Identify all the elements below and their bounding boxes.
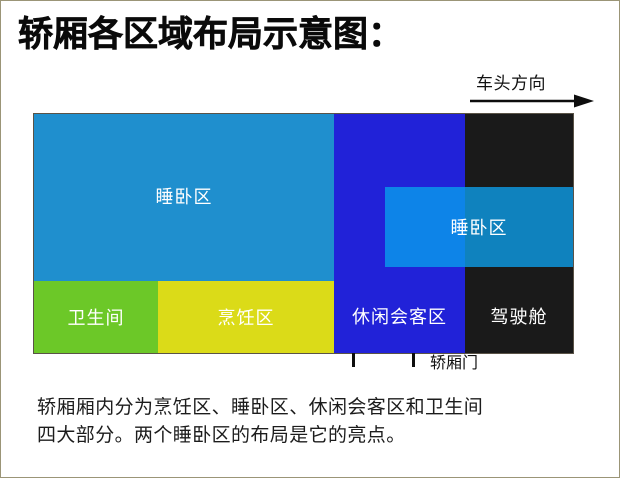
zone-bathroom[interactable]: 卫生间: [34, 281, 158, 353]
carriage-door-markers: 轿厢门: [34, 353, 594, 379]
zone-cockpit-label: 驾驶舱: [491, 303, 548, 329]
door-tick-icon: [352, 353, 355, 367]
caption-line-1: 轿厢厢内分为烹饪区、睡卧区、休闲会客区和卫生间: [37, 393, 587, 421]
zone-cooking-label: 烹饪区: [218, 304, 275, 330]
zone-sleeping-main-label: 睡卧区: [156, 183, 213, 209]
caption-line-2: 四大部分。两个睡卧区的布局是它的亮点。: [37, 421, 587, 449]
zone-bathroom-label: 卫生间: [68, 304, 125, 330]
zone-lounge-label: 休闲会客区: [352, 303, 447, 329]
caption: 轿厢厢内分为烹饪区、睡卧区、休闲会客区和卫生间 四大部分。两个睡卧区的布局是它的…: [37, 393, 587, 449]
zone-sleeping-secondary-right-fill: [465, 187, 573, 267]
zone-sleeping-secondary-left-fill: [385, 187, 465, 267]
zone-sleeping-secondary[interactable]: 睡卧区: [385, 187, 573, 267]
zone-cooking[interactable]: 烹饪区: [158, 281, 334, 353]
direction-indicator: 车头方向: [467, 69, 597, 111]
door-label: 轿厢门: [430, 349, 478, 373]
carriage-layout-diagram: 睡卧区 卫生间 烹饪区 休闲会客区 驾驶舱 睡卧区: [34, 114, 573, 353]
arrow-right-icon: [470, 93, 594, 109]
direction-label: 车头方向: [476, 69, 546, 94]
zone-sleeping-main[interactable]: 睡卧区: [34, 114, 334, 281]
door-tick-icon: [412, 353, 415, 367]
page-title: 轿厢各区域布局示意图：: [18, 15, 403, 55]
infographic-page: 轿厢各区域布局示意图： 车头方向 睡卧区 卫生间 烹饪区 休闲会客区 驾驶舱 睡…: [0, 0, 620, 478]
